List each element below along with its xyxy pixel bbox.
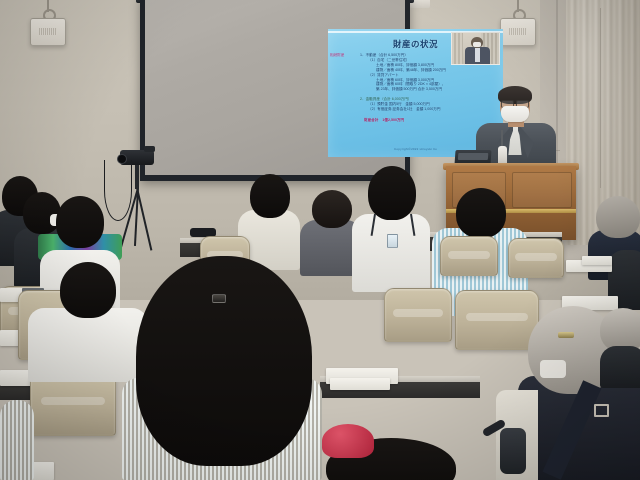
p11-face-mask-icon bbox=[540, 360, 566, 378]
wall-panel-line bbox=[600, 8, 601, 188]
p6-torso bbox=[352, 214, 430, 292]
p7-head bbox=[456, 188, 506, 238]
p8-head bbox=[596, 196, 640, 238]
p5-head bbox=[312, 190, 352, 228]
pbl-torso bbox=[0, 400, 34, 480]
slide-s1-heading: 1．不動産（合計 6,500万円） bbox=[338, 53, 497, 58]
slide-total-label: 財産合計 bbox=[364, 118, 378, 122]
pedge2-torso bbox=[600, 346, 640, 388]
tripod-column bbox=[135, 163, 139, 189]
wall-speaker-left bbox=[30, 18, 66, 46]
pip-face-mask bbox=[473, 42, 481, 47]
walker-handle bbox=[500, 428, 526, 474]
p6-head bbox=[368, 166, 416, 220]
lecture-hall-screenshot: 財産の状況 相続財産 1．不動産（合計 6,500万円） （1）自宅（二世帯住宅… bbox=[0, 0, 640, 480]
audience-person-bottom-left bbox=[0, 400, 34, 480]
p9-head-longhair bbox=[136, 256, 312, 466]
slide-left-label: 相続財産 bbox=[330, 53, 344, 58]
handout-papers-center2 bbox=[330, 378, 390, 390]
p6-name-badge bbox=[387, 234, 398, 248]
audience-person-p6 bbox=[352, 166, 430, 292]
p11-strap-buckle bbox=[594, 404, 609, 417]
handout-papers-right3 bbox=[582, 256, 612, 265]
p11-hair-clip bbox=[558, 332, 574, 338]
chair-back-right bbox=[440, 236, 498, 276]
p9-hair-clip bbox=[212, 294, 226, 303]
wall-speaker-right bbox=[500, 18, 536, 46]
slide-total-value: 1億2,500万円 bbox=[382, 118, 404, 122]
chair-back-right2 bbox=[508, 238, 564, 278]
audience-person-p9 bbox=[118, 256, 328, 480]
projection-screen: 財産の状況 相続財産 1．不動産（合計 6,500万円） （1）自宅（二世帯住宅… bbox=[140, 0, 410, 181]
red-cap bbox=[322, 424, 374, 458]
p3-head bbox=[56, 196, 104, 248]
chair-center-right bbox=[384, 288, 452, 342]
p4-head bbox=[250, 174, 290, 218]
face-mask-icon bbox=[501, 106, 529, 122]
audience-person-right-edge2 bbox=[600, 308, 640, 388]
p10-head bbox=[60, 262, 116, 318]
camera-viewfinder bbox=[144, 146, 155, 152]
